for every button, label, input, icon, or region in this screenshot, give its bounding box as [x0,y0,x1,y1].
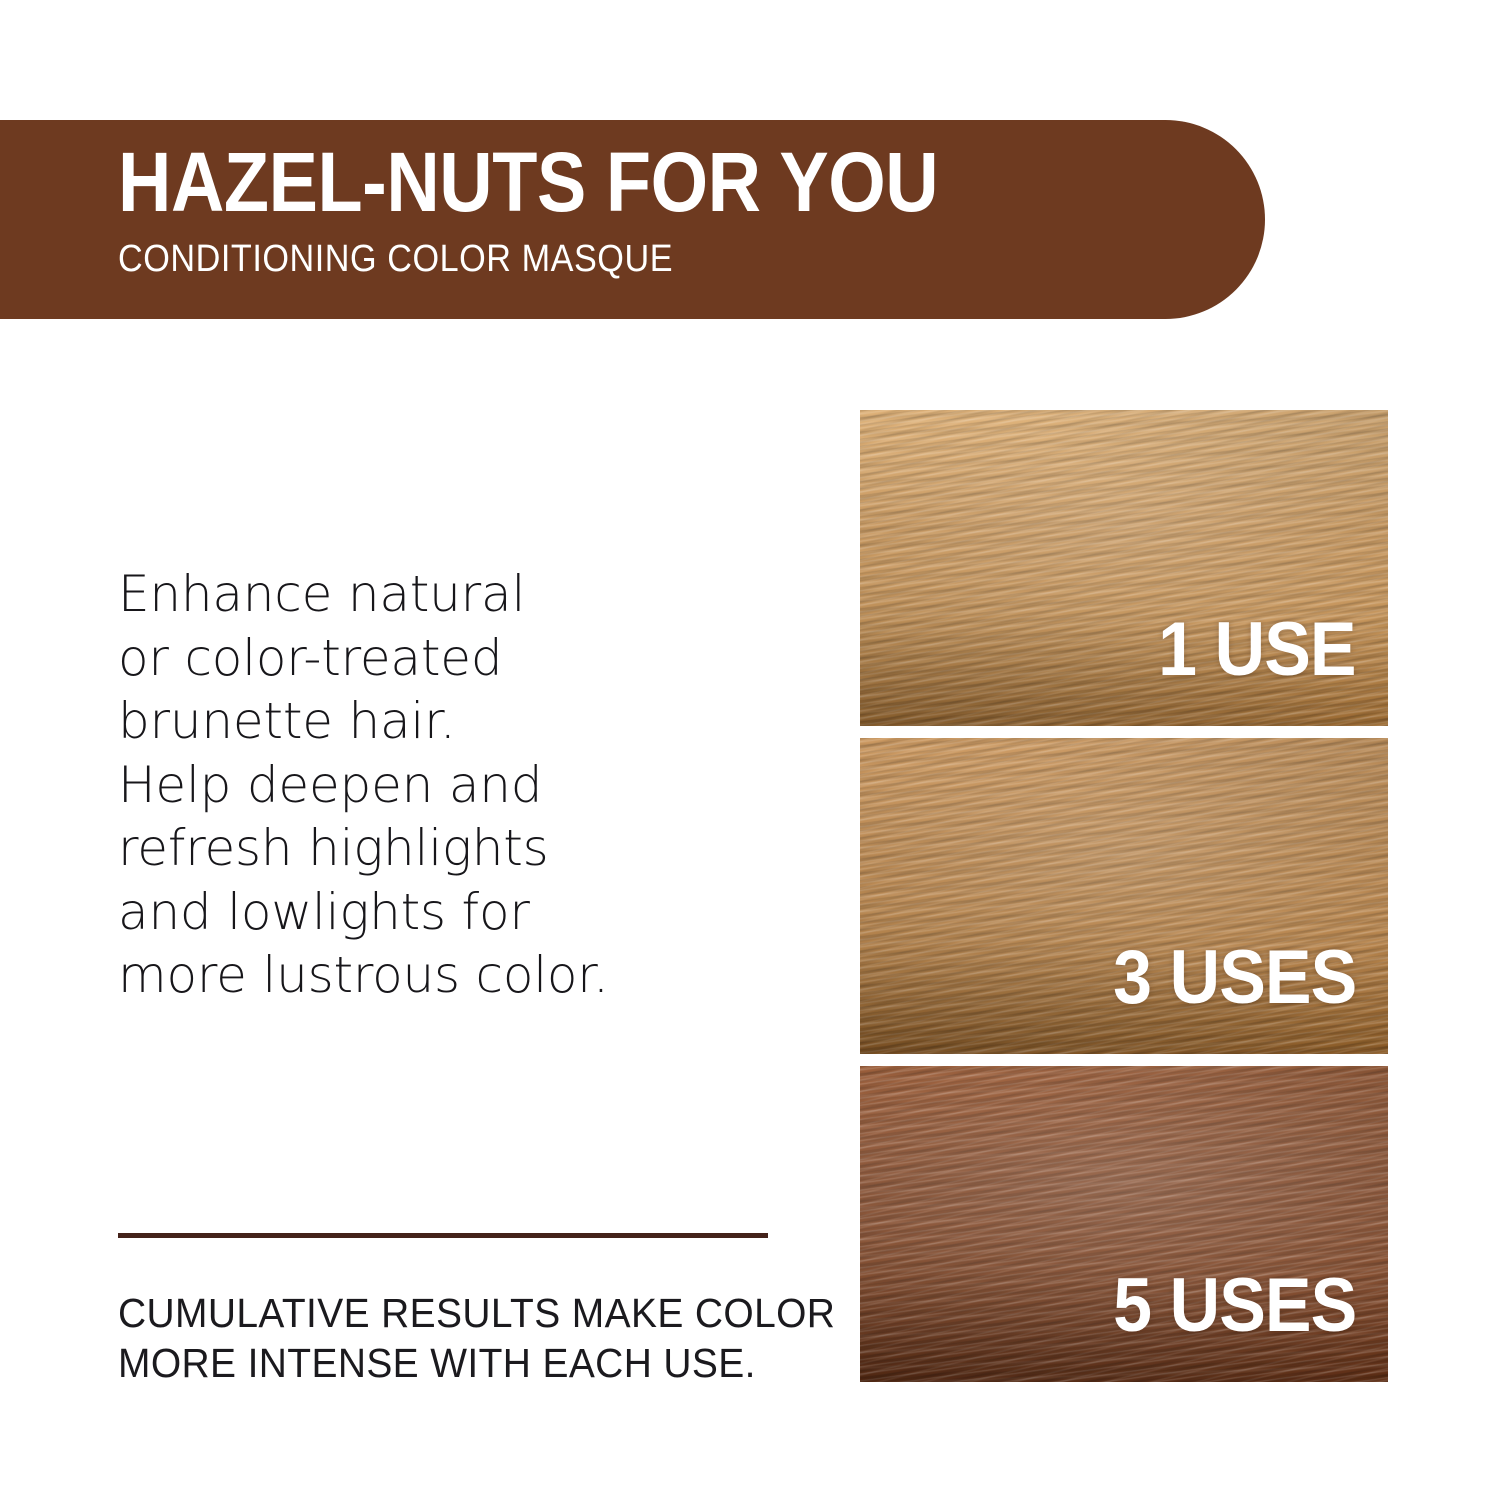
body-copy: Enhance natural or color-treated brunett… [118,563,738,1008]
hair-swatch: 3 USES [860,738,1388,1054]
body-copy-line: brunette hair. [118,690,738,754]
header-banner: HAZEL-NUTS FOR YOU CONDITIONING COLOR MA… [0,120,1265,319]
body-copy-line: Help deepen and [118,754,738,818]
page-title: HAZEL-NUTS FOR YOU [118,138,938,226]
body-copy-line: Enhance natural [118,563,738,627]
hair-swatch-stack: 1 USE 3 USES 5 USES [860,410,1388,1382]
body-copy-line: or color-treated [118,627,738,691]
page-subtitle: CONDITIONING COLOR MASQUE [118,238,673,280]
footer-caption-line: MORE INTENSE WITH EACH USE. [118,1338,802,1388]
hair-swatch: 5 USES [860,1066,1388,1382]
divider-rule [118,1233,768,1238]
body-copy-line: refresh highlights [118,817,738,881]
footer-caption-line: CUMULATIVE RESULTS MAKE COLOR [118,1288,802,1338]
swatch-label: 5 USES [1113,1268,1356,1344]
body-copy-line: more lustrous color. [118,944,738,1008]
footer-caption: CUMULATIVE RESULTS MAKE COLOR MORE INTEN… [118,1288,802,1388]
swatch-label: 1 USE [1159,612,1356,688]
hair-swatch: 1 USE [860,410,1388,726]
swatch-label: 3 USES [1113,940,1356,1016]
body-copy-line: and lowlights for [118,881,738,945]
